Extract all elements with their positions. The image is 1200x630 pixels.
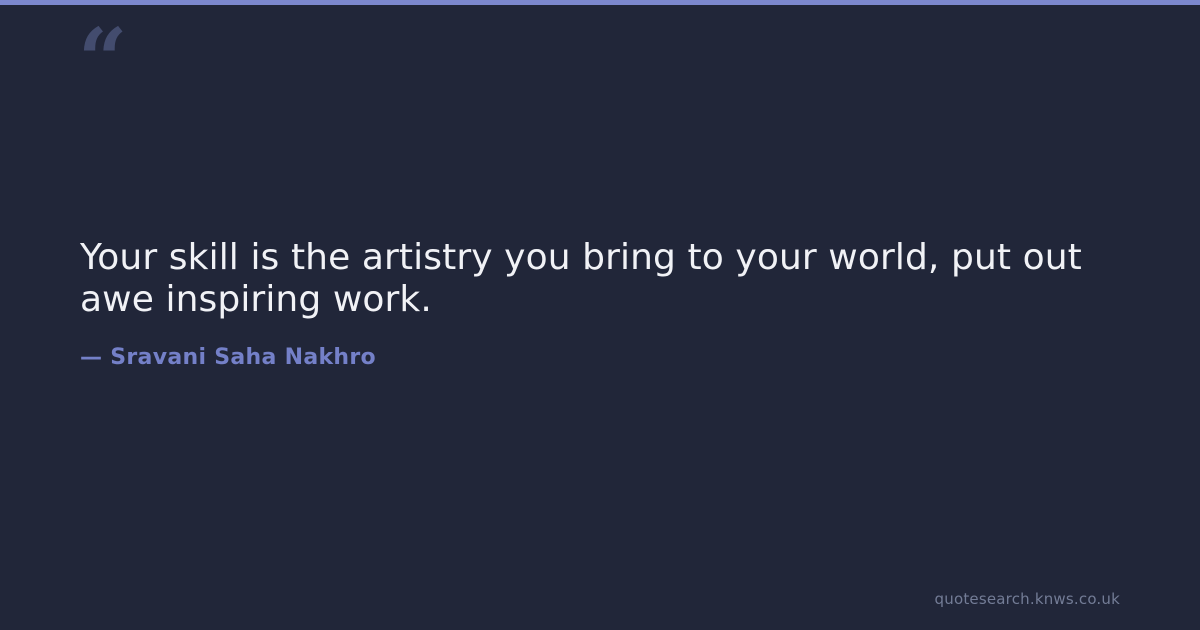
site-watermark: quotesearch.knws.co.uk bbox=[935, 590, 1120, 608]
quote-card: “ Your skill is the artistry you bring t… bbox=[0, 0, 1200, 630]
quotation-mark-icon: “ bbox=[78, 18, 125, 104]
quote-text: Your skill is the artistry you bring to … bbox=[80, 237, 1130, 321]
top-accent-bar bbox=[0, 0, 1200, 5]
quote-attribution: — Sravani Saha Nakhro bbox=[80, 345, 376, 370]
quote-block: Your skill is the artistry you bring to … bbox=[80, 237, 1130, 321]
